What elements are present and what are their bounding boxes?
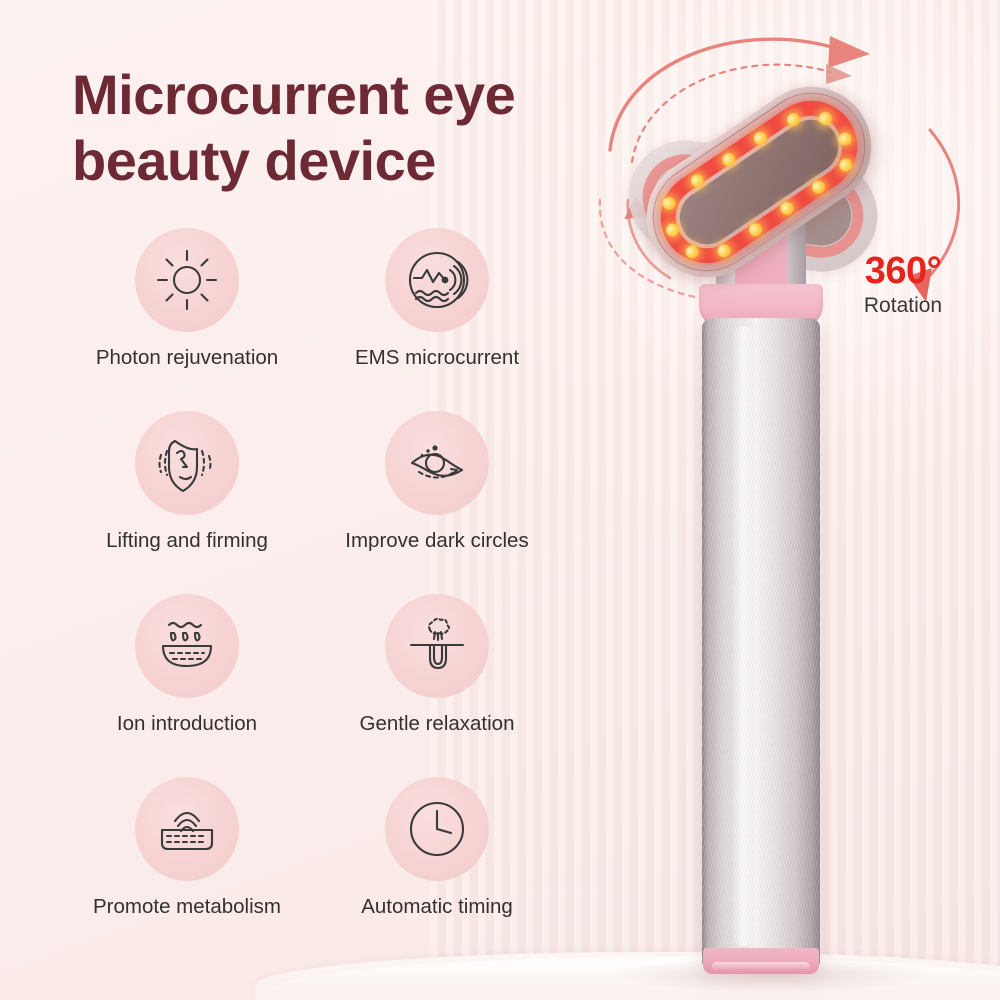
handle-highlight: [732, 326, 754, 946]
rotation-degrees: 360°: [838, 252, 968, 290]
rotation-caption: Rotation: [838, 294, 968, 318]
device-handle: [702, 318, 820, 968]
rotation-callout: 360° Rotation: [838, 252, 968, 318]
handle-texture: [702, 318, 820, 968]
product-marketing-image: Microcurrent eye beauty device Photon re…: [0, 0, 1000, 1000]
device-base-gloss: [712, 962, 810, 971]
product-device: 360° Rotation: [0, 0, 1000, 1000]
